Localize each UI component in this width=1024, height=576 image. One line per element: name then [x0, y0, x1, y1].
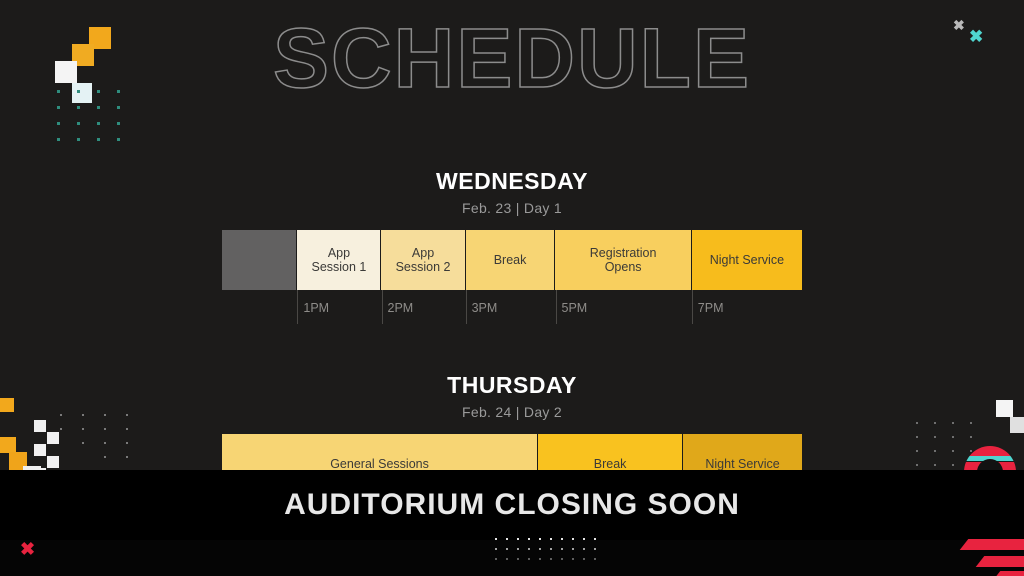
decorative-dot	[60, 414, 62, 416]
decorative-dot	[517, 548, 519, 550]
schedule-segment: App Session 1	[297, 230, 381, 290]
schedule-segment	[222, 230, 297, 290]
decorative-dot	[126, 428, 128, 430]
decorative-dot	[916, 464, 918, 466]
decorative-dot	[550, 538, 552, 540]
decorative-dot	[594, 548, 596, 550]
decorative-square	[55, 61, 77, 83]
decorative-dot	[117, 106, 120, 109]
decorative-square	[72, 83, 92, 103]
decorative-dot	[550, 548, 552, 550]
decorative-square	[1010, 417, 1024, 433]
decorative-dot	[539, 548, 541, 550]
red-stripe-2	[976, 556, 1024, 567]
schedule-segment: Night Service	[692, 230, 802, 290]
decorative-dot	[57, 90, 60, 93]
decorative-square	[996, 400, 1013, 417]
decorative-dot	[561, 548, 563, 550]
decorative-dot	[126, 414, 128, 416]
checker-square	[47, 432, 59, 444]
decorative-dot	[572, 548, 574, 550]
decorative-dot	[561, 538, 563, 540]
time-tick-label: 2PM	[382, 301, 414, 315]
decorative-dot	[82, 428, 84, 430]
decorative-dot	[594, 538, 596, 540]
decorative-dot	[916, 422, 918, 424]
decorative-dot	[57, 106, 60, 109]
decorative-dot	[550, 558, 552, 560]
time-tick-label: 3PM	[466, 301, 498, 315]
decorative-dot	[117, 90, 120, 93]
decorative-dot	[82, 442, 84, 444]
checker-square	[47, 456, 59, 468]
decorative-dot	[528, 538, 530, 540]
decorative-dot	[539, 538, 541, 540]
decorative-dot	[583, 538, 585, 540]
decorative-dot	[561, 558, 563, 560]
decorative-dot	[82, 414, 84, 416]
decorative-dot	[57, 122, 60, 125]
decorative-square	[0, 437, 16, 453]
decoration-top-left	[0, 0, 180, 160]
time-axis-wednesday: 1PM2PM3PM5PM7PM	[222, 290, 802, 324]
decorative-dot	[77, 90, 80, 93]
decorative-dot	[572, 558, 574, 560]
decorative-dot	[104, 414, 106, 416]
decorative-dot	[952, 422, 954, 424]
decorative-dot	[528, 548, 530, 550]
day-date: Feb. 23 | Day 1	[0, 200, 1024, 216]
decorative-dot	[934, 422, 936, 424]
decorative-dot	[60, 428, 62, 430]
decorative-dot	[104, 442, 106, 444]
slide-canvas: ✖ ✖ SCHEDULE WEDNESDAY Feb. 23 | Day 1 A…	[0, 0, 1024, 576]
decorative-dot	[104, 456, 106, 458]
decorative-dot	[916, 450, 918, 452]
checker-square	[34, 420, 46, 432]
schedule-segment: Registration Opens	[555, 230, 691, 290]
decorative-dot	[970, 436, 972, 438]
decorative-dot	[506, 548, 508, 550]
decorative-dot	[104, 428, 106, 430]
decorative-dot	[495, 538, 497, 540]
time-tick-label: 5PM	[556, 301, 588, 315]
decorative-dot	[495, 548, 497, 550]
decorative-dot	[539, 558, 541, 560]
decorative-dot	[916, 436, 918, 438]
schedule-segment: App Session 2	[381, 230, 465, 290]
decorative-dot	[528, 558, 530, 560]
decorative-dot	[126, 442, 128, 444]
day-block-wednesday: WEDNESDAY Feb. 23 | Day 1 App Session 1A…	[0, 168, 1024, 324]
decorative-dot	[97, 106, 100, 109]
decorative-dot	[583, 548, 585, 550]
decorative-dot	[934, 450, 936, 452]
decorative-dot	[517, 538, 519, 540]
decorative-dot	[77, 106, 80, 109]
decorative-dot	[517, 558, 519, 560]
decorative-dot	[506, 558, 508, 560]
time-tick-label: 7PM	[692, 301, 724, 315]
decorative-dot	[97, 122, 100, 125]
decorative-dot	[77, 138, 80, 141]
decorative-dot	[594, 558, 596, 560]
decorative-dot	[126, 456, 128, 458]
decorative-dot	[952, 464, 954, 466]
decorative-dot	[77, 122, 80, 125]
red-stripe-1	[960, 539, 1024, 550]
decorative-dot	[57, 138, 60, 141]
decorative-dot	[117, 138, 120, 141]
x-marker-red-icon: ✖	[20, 540, 35, 558]
decorative-dot	[97, 138, 100, 141]
decorative-square	[0, 398, 14, 412]
decorative-dot	[117, 122, 120, 125]
schedule-segment: Break	[466, 230, 556, 290]
alert-banner-text: AUDITORIUM CLOSING SOON	[284, 488, 740, 522]
decorative-dot	[952, 450, 954, 452]
bottom-center-dot-grid	[495, 538, 615, 568]
time-tick-label: 1PM	[297, 301, 329, 315]
schedule-bar-wednesday: App Session 1App Session 2BreakRegistrat…	[222, 230, 802, 290]
alert-banner: AUDITORIUM CLOSING SOON	[0, 470, 1024, 540]
decorative-dot	[97, 90, 100, 93]
decorative-dot	[934, 436, 936, 438]
decorative-dot	[495, 558, 497, 560]
decorative-dot	[970, 422, 972, 424]
decorative-dot	[572, 538, 574, 540]
decorative-dot	[934, 464, 936, 466]
decorative-dot	[583, 558, 585, 560]
decorative-dot	[952, 436, 954, 438]
checker-square	[34, 444, 46, 456]
decorative-dot	[506, 538, 508, 540]
day-name: WEDNESDAY	[0, 168, 1024, 195]
